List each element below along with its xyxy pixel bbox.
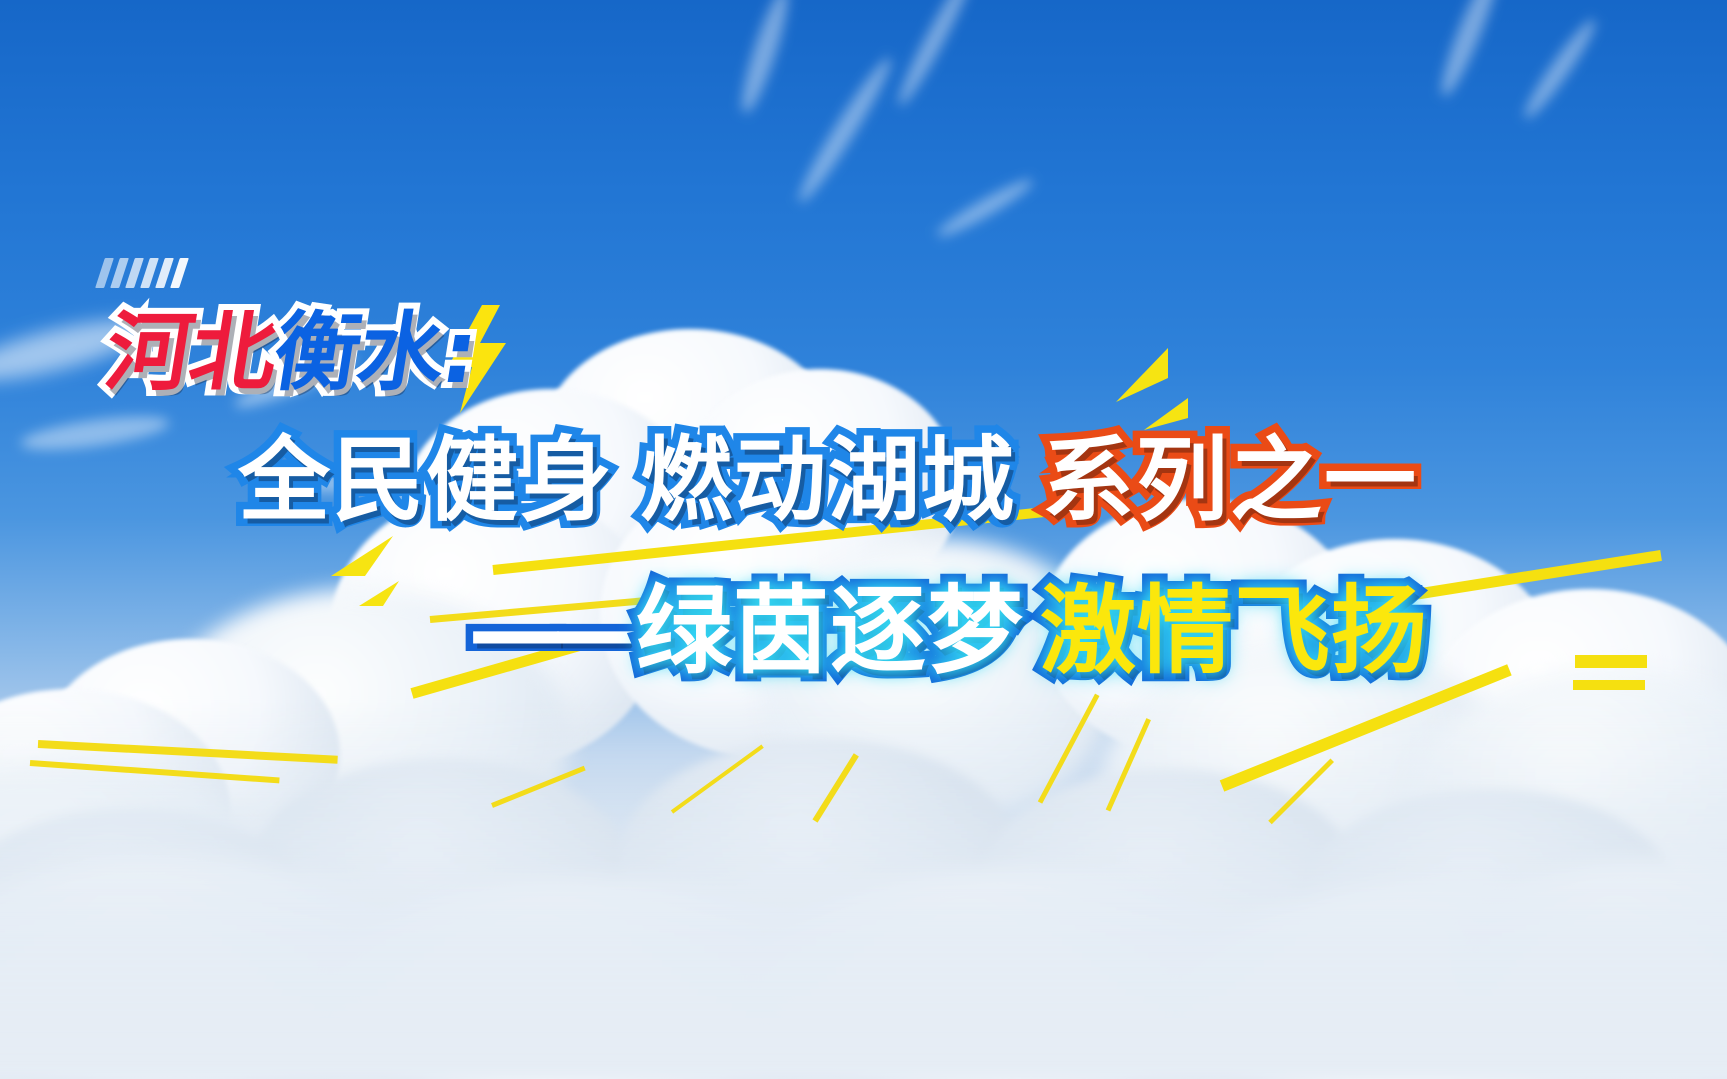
dart-left-icon-1 (325, 532, 395, 582)
headline1-segment-c: 系列之一 (1042, 427, 1418, 534)
headline2-segment-b: 激情飞扬 (1040, 575, 1428, 687)
dart-left-icon-2 (355, 578, 401, 610)
kicker-line: 河北衡水: (98, 282, 486, 407)
title-card-stage: 河北衡水: 全民健身燃动湖城系列之一 ——绿茵逐梦激情飞扬 (0, 0, 1727, 1079)
headline1-segment-b: 燃动湖城 (640, 427, 1016, 534)
headline2-segment-a: 绿茵逐梦 (636, 575, 1024, 687)
kicker-blue-text: 衡水: (267, 303, 483, 403)
headline-line-2: ——绿茵逐梦激情飞扬 (468, 553, 1428, 692)
headline-line-1: 全民健身燃动湖城系列之一 (238, 406, 1418, 539)
kicker-red-text: 河北 (99, 303, 283, 403)
headline1-segment-a: 全民健身 (238, 427, 614, 534)
headline2-dash: —— (468, 575, 636, 687)
